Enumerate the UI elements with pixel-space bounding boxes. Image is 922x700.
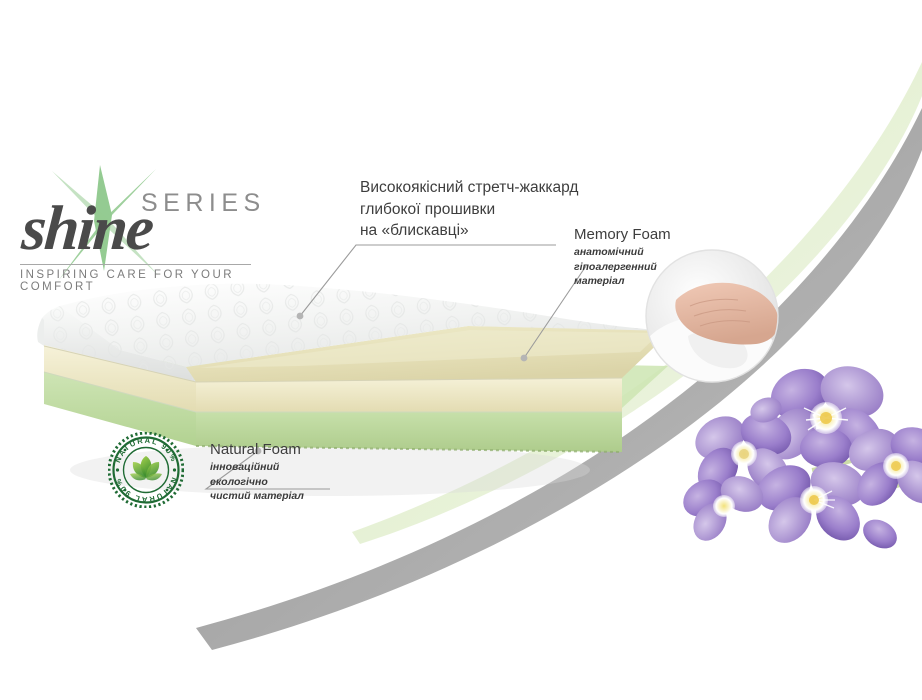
callout-memory-sub2: гіпоалергенний bbox=[574, 261, 724, 274]
callout-memory-title: Memory Foam bbox=[574, 226, 724, 244]
callout-natural-sub1: інноваційний bbox=[210, 461, 370, 474]
callout-natural-sub2: екологічно bbox=[210, 476, 370, 489]
callout-jacquard-line1: Високоякісний стретч-жаккард bbox=[360, 177, 610, 199]
callout-jacquard: Високоякісний стретч-жаккард глибокої пр… bbox=[360, 177, 610, 242]
callout-jacquard-line3: на «блискавці» bbox=[360, 220, 610, 242]
callout-natural-title: Natural Foam bbox=[210, 441, 370, 459]
callout-memory-foam: Memory Foam анатомічний гіпоалергенний м… bbox=[574, 226, 724, 288]
callout-jacquard-line2: глибокої прошивки bbox=[360, 199, 610, 221]
infographic-canvas: SERIES shine INSPIRING CARE FOR YOUR COM… bbox=[0, 0, 922, 700]
flower-cluster bbox=[676, 358, 922, 554]
callout-natural-foam: Natural Foam інноваційний екологічно чис… bbox=[210, 441, 370, 503]
violet-flowers-photo bbox=[0, 0, 922, 700]
callout-natural-sub3: чистий матеріал bbox=[210, 490, 370, 503]
callout-memory-sub3: матеріал bbox=[574, 275, 724, 288]
natural-90-badge: NATURAL 90% NATURAL 90% bbox=[108, 432, 184, 508]
badge-leaf-icon bbox=[130, 456, 162, 480]
callout-memory-sub1: анатомічний bbox=[574, 246, 724, 259]
flower-bud bbox=[858, 514, 902, 555]
